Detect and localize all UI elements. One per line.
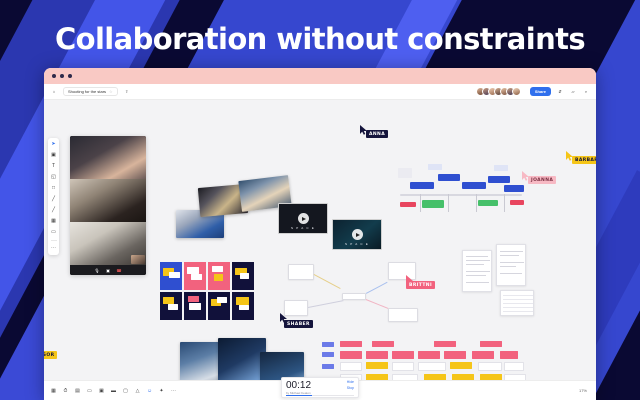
timer-info: 00:12 by Michael Keaton	[286, 380, 311, 395]
search-icon[interactable]: ⌕	[582, 88, 590, 96]
timer-stop-button[interactable]: Stop	[347, 386, 354, 390]
board-tile[interactable]	[232, 262, 254, 290]
shape-tool-icon[interactable]: □	[50, 185, 57, 192]
video-tile-participant-2[interactable]	[70, 179, 146, 222]
video-call-controls[interactable]: 🎙 ▣ ☎	[70, 265, 146, 275]
video-caption: S P A C E	[333, 242, 381, 246]
kanban-card[interactable]	[472, 351, 494, 359]
camera-icon[interactable]: ▣	[106, 268, 111, 273]
star-icon[interactable]: ☆	[109, 89, 113, 94]
cursor-shaber: SHABER	[280, 310, 288, 328]
timeline[interactable]	[396, 162, 524, 214]
mindmap-connector	[308, 300, 343, 307]
cursor-barbara: BARBARA	[566, 148, 574, 166]
timer-progress	[286, 395, 354, 396]
timeline-task-red[interactable]	[400, 202, 416, 207]
video-tile-participant-1[interactable]	[70, 136, 146, 179]
avatar[interactable]	[512, 87, 521, 96]
record-icon[interactable]: ▢	[122, 387, 129, 394]
timer-hide-button[interactable]: Hide	[347, 380, 354, 384]
cursor-label-barbara: BARBARA	[572, 156, 596, 164]
cursor-label-yosor: YOSOR	[44, 351, 57, 359]
document-card[interactable]	[496, 244, 526, 286]
kanban-card[interactable]	[450, 362, 472, 369]
bottom-tool-group[interactable]: ▦ ⏱ ▤ ▭ ▣ ▬ ▢ △ ☺ ✦ ⋯	[50, 387, 177, 394]
zoom-level-indicator[interactable]: 17%	[576, 387, 590, 394]
timeline-chip[interactable]	[494, 165, 508, 171]
timeline-task-green[interactable]	[422, 200, 444, 208]
window-maximize-dot[interactable]	[68, 74, 72, 78]
timeline-tick	[504, 194, 505, 212]
reaction-icon[interactable]: ☺	[146, 387, 153, 394]
board-tile[interactable]	[208, 262, 230, 290]
window-close-dot[interactable]	[52, 74, 56, 78]
kanban-row-label[interactable]	[322, 342, 334, 347]
board-tile[interactable]	[184, 292, 206, 320]
cursor-brittni: BRITTNI	[406, 272, 414, 290]
kanban-card[interactable]	[418, 351, 440, 359]
timer-widget[interactable]: 00:12 by Michael Keaton Hide Stop	[281, 377, 359, 398]
timeline-milestone[interactable]	[410, 182, 434, 189]
kanban-row-label[interactable]	[322, 364, 334, 369]
kanban-card[interactable]	[504, 362, 524, 371]
kanban-card[interactable]	[340, 362, 362, 371]
text-tool-icon[interactable]: T	[50, 163, 57, 170]
video-space-1[interactable]: S P A C E	[278, 203, 328, 234]
cursor-anna: ANNA	[360, 122, 368, 140]
timeline-task-green[interactable]	[478, 200, 498, 206]
cursor-label-anna: ANNA	[366, 130, 388, 138]
mindmap-connector	[366, 299, 388, 308]
cursor-tool-icon[interactable]: ➤	[50, 141, 57, 148]
kanban-card[interactable]	[366, 351, 388, 359]
timeline-legend	[398, 168, 412, 178]
left-toolbar[interactable]: ➤ ▣ T ◱ □ ╱ ╱ ▦ ▭ ⋯	[48, 138, 59, 255]
video-space-2[interactable]: S P A C E	[332, 219, 382, 250]
frame-tool-icon[interactable]: ◱	[50, 174, 57, 181]
kanban-card[interactable]	[434, 341, 456, 347]
kanban-card[interactable]	[480, 341, 502, 347]
cursor-label-shaber: SHABER	[284, 320, 313, 328]
more-tools-icon[interactable]: ⋯	[50, 245, 57, 252]
comment-tool-icon[interactable]: ▭	[50, 229, 57, 236]
board-tile[interactable]	[160, 292, 182, 320]
breadcrumb[interactable]: Shooting for the stars ☆	[63, 87, 118, 96]
sticky-boards-grid[interactable]	[160, 262, 254, 320]
kanban-card[interactable]	[340, 341, 362, 347]
home-icon[interactable]: ⌂	[50, 88, 58, 96]
image-tool-icon[interactable]: ▦	[50, 218, 57, 225]
kanban-card[interactable]	[392, 362, 414, 371]
mindmap-connector	[314, 274, 341, 289]
chat-icon[interactable]: ▭	[86, 387, 93, 394]
mindmap-node[interactable]	[388, 308, 418, 322]
video-call-panel[interactable]: 🎙 ▣ ☎	[70, 136, 146, 275]
kanban-row-label[interactable]	[322, 352, 334, 357]
cursor-label-joanna: JOANNA	[528, 176, 556, 184]
screen-share-icon[interactable]: ▣	[98, 387, 105, 394]
kanban-card[interactable]	[478, 362, 502, 371]
attention-icon[interactable]: △	[134, 387, 141, 394]
timer-actions[interactable]: Hide Stop	[347, 380, 354, 390]
bottom-toolbar[interactable]: ▦ ⏱ ▤ ▭ ▣ ▬ ▢ △ ☺ ✦ ⋯ 00:12 by Michael K…	[44, 380, 596, 400]
window-minimize-dot[interactable]	[60, 74, 64, 78]
mindmap-node[interactable]	[288, 264, 314, 280]
cursor-label-brittni: BRITTNI	[406, 281, 435, 289]
app-window: ⌂ Shooting for the stars ☆ ⇪ Share ⇵ ▱ ⌕…	[44, 68, 596, 400]
sticky-note-tool-icon[interactable]: ▣	[50, 152, 57, 159]
board-tile[interactable]	[184, 262, 206, 290]
frame-icon[interactable]: ⇵	[556, 88, 564, 96]
kanban-card[interactable]	[418, 362, 446, 371]
spreadsheet-card[interactable]	[500, 290, 534, 316]
play-icon[interactable]	[352, 229, 363, 240]
board-tile[interactable]	[160, 262, 182, 290]
video-tile-participant-3[interactable]	[70, 222, 146, 265]
marker-tool-icon[interactable]: ╱	[50, 207, 57, 214]
timeline-task-red[interactable]	[510, 200, 524, 205]
toolbar-divider	[51, 240, 57, 241]
play-icon[interactable]	[298, 213, 309, 224]
timer-icon[interactable]: ⏱	[62, 387, 69, 394]
timeline-chip[interactable]	[428, 164, 442, 170]
video-caption: S P A C E	[279, 226, 327, 230]
mindmap-center-node[interactable]	[342, 293, 366, 300]
timer-value: 00:12	[286, 380, 311, 391]
timeline-tick	[420, 194, 421, 212]
kanban-card[interactable]	[366, 362, 388, 369]
timeline-milestone[interactable]	[488, 176, 510, 183]
board-canvas[interactable]: ➤ ▣ T ◱ □ ╱ ╱ ▦ ▭ ⋯ 🎙 ▣ ☎	[44, 100, 596, 400]
window-titlebar	[44, 68, 596, 84]
timeline-tick	[476, 194, 477, 212]
timeline-milestone[interactable]	[462, 182, 486, 189]
timeline-milestone[interactable]	[438, 174, 460, 181]
avatar-stack[interactable]	[476, 87, 521, 96]
voting-icon[interactable]: ▤	[74, 387, 81, 394]
kanban-card[interactable]	[500, 351, 518, 359]
app-header: ⌂ Shooting for the stars ☆ ⇪ Share ⇵ ▱ ⌕	[44, 84, 596, 100]
breadcrumb-title: Shooting for the stars	[68, 89, 106, 94]
cursor-joanna: JOANNA	[522, 168, 530, 186]
upload-icon[interactable]: ⇪	[123, 88, 131, 96]
page-title: Collaboration without constraints	[0, 22, 640, 56]
board-tile[interactable]	[232, 292, 254, 320]
more-icon[interactable]: ⋯	[170, 387, 177, 394]
mindmap-connector	[366, 282, 387, 294]
video-chat-icon[interactable]: ▬	[110, 387, 117, 394]
kanban-card[interactable]	[444, 351, 466, 359]
mic-icon[interactable]: 🎙	[95, 268, 100, 273]
apps-icon[interactable]: ✦	[158, 387, 165, 394]
present-icon[interactable]: ▱	[569, 88, 577, 96]
board-tile[interactable]	[208, 292, 230, 320]
timeline-tick	[448, 194, 449, 212]
timeline-milestone[interactable]	[504, 185, 524, 192]
pen-tool-icon[interactable]: ╱	[50, 196, 57, 203]
share-button[interactable]: Share	[530, 87, 551, 96]
document-card[interactable]	[462, 250, 492, 292]
kanban-card[interactable]	[392, 351, 414, 359]
self-view-thumbnail	[131, 255, 145, 264]
grid-icon[interactable]: ▦	[50, 387, 57, 394]
end-call-icon[interactable]: ☎	[117, 268, 122, 273]
kanban-card[interactable]	[340, 351, 362, 359]
kanban-card[interactable]	[372, 341, 394, 347]
